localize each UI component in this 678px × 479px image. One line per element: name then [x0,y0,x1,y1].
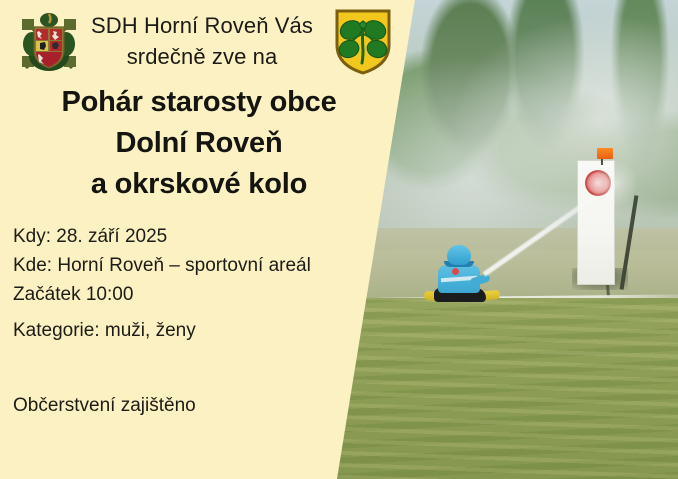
page-title: Pohár starosty obce Dolní Roveň a okrsko… [8,82,390,205]
title-line-2: Dolní Roveň [8,123,390,164]
text-column: SDH Horní Roveň Vás srdečně zve na Pohá [0,0,415,479]
poster-canvas: SDH Horní Roveň Vás srdečně zve na Pohá [0,0,678,479]
detail-refreshments: Občerstvení zajištěno [13,395,196,417]
detail-where: Kde: Horní Roveň – sportovní areál [13,251,373,280]
title-line-1: Pohár starosty obce [8,82,390,123]
detail-when: Kdy: 28. září 2025 [13,222,373,251]
header-text: SDH Horní Roveň Vás srdečně zve na [86,10,318,72]
detail-category: Kategorie: muži, ženy [13,320,196,342]
header-line-2: srdečně zve na [86,41,318,72]
header-row: SDH Horní Roveň Vás srdečně zve na [0,6,415,80]
event-details: Kdy: 28. září 2025 Kde: Horní Roveň – sp… [13,222,373,309]
detail-start: Začátek 10:00 [13,280,373,309]
header-line-1: SDH Horní Roveň Vás [86,10,318,41]
title-line-3: a okrskové kolo [8,164,390,205]
dolni-roven-shield-icon [334,8,392,76]
czech-firefighter-crest-icon [18,10,80,76]
